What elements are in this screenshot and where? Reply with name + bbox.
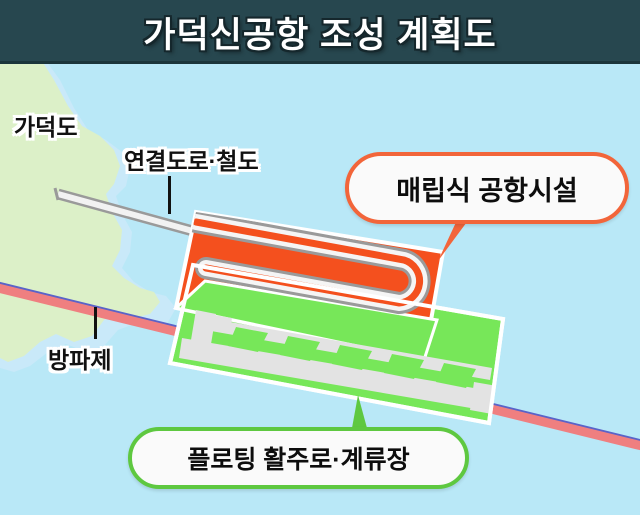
- callout-floating-runway-apron[interactable]: 플로팅 활주로·계류장: [128, 427, 469, 489]
- infographic-canvas: 가덕신공항 조성 계획도 가덕도 연결도로·철도 방파제 매립식 공항시설 플로…: [0, 0, 640, 515]
- map-label-gadeok-island: 가덕도: [14, 108, 77, 142]
- callout-landfill-airport-facility[interactable]: 매립식 공항시설: [345, 152, 629, 224]
- callout-landfill-label: 매립식 공항시설: [396, 169, 577, 208]
- leader-line-breakwater: [94, 307, 97, 339]
- map-label-connecting-road-railway: 연결도로·철도: [124, 142, 259, 176]
- callout-floating-label: 플로팅 활주로·계류장: [187, 440, 409, 476]
- page-title: 가덕신공항 조성 계획도: [0, 0, 640, 64]
- leader-line-connecting-road: [168, 176, 171, 214]
- header-bar: 가덕신공항 조성 계획도: [0, 0, 640, 64]
- map-label-breakwater: 방파제: [48, 341, 111, 375]
